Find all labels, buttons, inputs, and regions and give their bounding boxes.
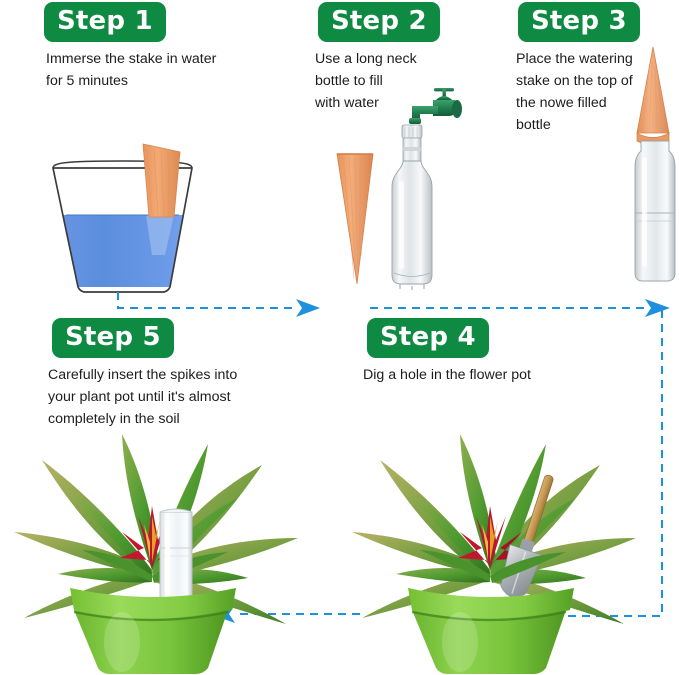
connector-step1-to-step2	[118, 292, 320, 317]
infographic-page: Step 1 Immerse the stake in water for 5 …	[0, 0, 679, 675]
flower-pot	[408, 588, 574, 674]
cone-stake-illustration	[333, 150, 379, 290]
connector-step2-to-step3	[370, 299, 670, 317]
step-3-badge: Step 3	[518, 2, 640, 42]
plant-with-trowel-illustration	[330, 420, 660, 675]
step-1-description: Immerse the stake in water for 5 minutes	[46, 48, 296, 92]
stake-on-bottle-illustration	[627, 45, 679, 295]
long-neck-bottle-illustration	[386, 123, 438, 291]
beaker-illustration	[34, 135, 234, 295]
step-1-badge: Step 1	[44, 2, 166, 42]
step-4-description: Dig a hole in the flower pot	[363, 364, 623, 386]
step-5-badge: Step 5	[52, 318, 174, 358]
plant-with-stake-illustration	[2, 420, 322, 675]
flower-pot	[70, 588, 236, 674]
step-2-badge: Step 2	[318, 2, 440, 42]
step-4-badge: Step 4	[367, 318, 489, 358]
